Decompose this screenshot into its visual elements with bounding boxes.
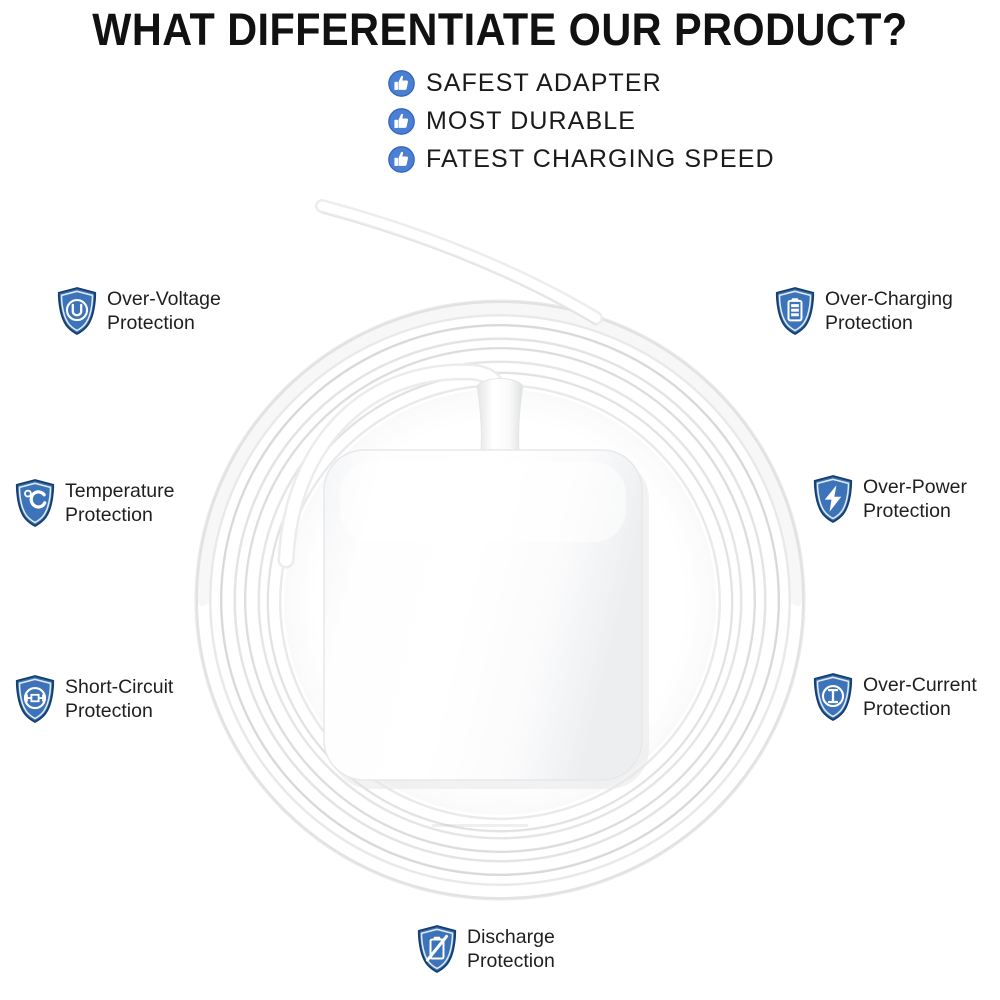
badge-label: Short-Circuit Protection <box>65 674 173 723</box>
cable-to-adapter <box>286 372 500 560</box>
badge-label: Temperature Protection <box>65 478 174 527</box>
infographic-page: WHAT DIFFERENTIATE OUR PRODUCT? SAFEST A… <box>0 0 1000 1000</box>
shield-temperature-icon <box>14 479 56 527</box>
thumbs-up-icon <box>388 70 415 97</box>
badge-temperature: Temperature Protection <box>14 478 174 527</box>
shield-short-circuit-icon <box>14 675 56 723</box>
badge-label-line1: Over-Charging <box>825 288 953 310</box>
shield-over-power-icon <box>812 475 854 523</box>
badge-label-line2: Protection <box>65 503 174 527</box>
cable-tail <box>322 206 596 325</box>
shield-over-voltage-icon <box>56 287 98 335</box>
shield-discharge-icon <box>416 925 458 973</box>
badge-label-line2: Protection <box>65 699 173 723</box>
badge-label-line1: Over-Voltage <box>107 288 221 310</box>
badge-label: Discharge Protection <box>467 924 555 973</box>
bullet-label: SAFEST ADAPTER <box>426 69 662 98</box>
badge-short-circuit: Short-Circuit Protection <box>14 674 173 723</box>
badge-label-line1: Over-Power <box>863 476 967 498</box>
coil-interior <box>284 389 716 815</box>
cable-coil <box>197 302 803 898</box>
adapter-print <box>432 824 528 827</box>
badge-over-current: Over-Current Protection <box>812 672 977 721</box>
badge-discharge: Discharge Protection <box>416 924 555 973</box>
badge-label-line1: Short-Circuit <box>65 676 173 698</box>
badge-label: Over-Charging Protection <box>825 286 953 335</box>
badge-over-voltage: Over-Voltage Protection <box>56 286 221 335</box>
bullet-label: FATEST CHARGING SPEED <box>426 145 775 174</box>
badge-label-line1: Discharge <box>467 926 555 948</box>
feature-bullet-list: SAFEST ADAPTER MOST DURABLE FATEST CHARG… <box>388 66 908 180</box>
badge-label-line1: Temperature <box>65 480 174 502</box>
bullet-item: SAFEST ADAPTER <box>388 66 908 101</box>
badge-label: Over-Power Protection <box>863 474 967 523</box>
shield-over-charging-icon <box>774 287 816 335</box>
thumbs-up-icon <box>388 108 415 135</box>
badge-over-charging: Over-Charging Protection <box>774 286 953 335</box>
page-title: WHAT DIFFERENTIATE OUR PRODUCT? <box>40 4 960 56</box>
adapter-highlight <box>340 462 626 542</box>
badge-label-line2: Protection <box>863 499 967 523</box>
bullet-item: MOST DURABLE <box>388 104 908 139</box>
badge-label: Over-Voltage Protection <box>107 286 221 335</box>
badge-over-power: Over-Power Protection <box>812 474 967 523</box>
adapter-body <box>324 450 642 780</box>
cable-strain-relief <box>477 379 523 453</box>
bullet-item: FATEST CHARGING SPEED <box>388 142 908 177</box>
badge-label-line2: Protection <box>825 311 953 335</box>
badge-label-line2: Protection <box>863 697 977 721</box>
badge-label-line2: Protection <box>467 949 555 973</box>
thumbs-up-icon <box>388 146 415 173</box>
badge-label-line1: Over-Current <box>863 674 977 696</box>
adapter-shadow <box>331 459 649 789</box>
shield-over-current-icon <box>812 673 854 721</box>
badge-label: Over-Current Protection <box>863 672 977 721</box>
bullet-label: MOST DURABLE <box>426 107 636 136</box>
badge-label-line2: Protection <box>107 311 221 335</box>
